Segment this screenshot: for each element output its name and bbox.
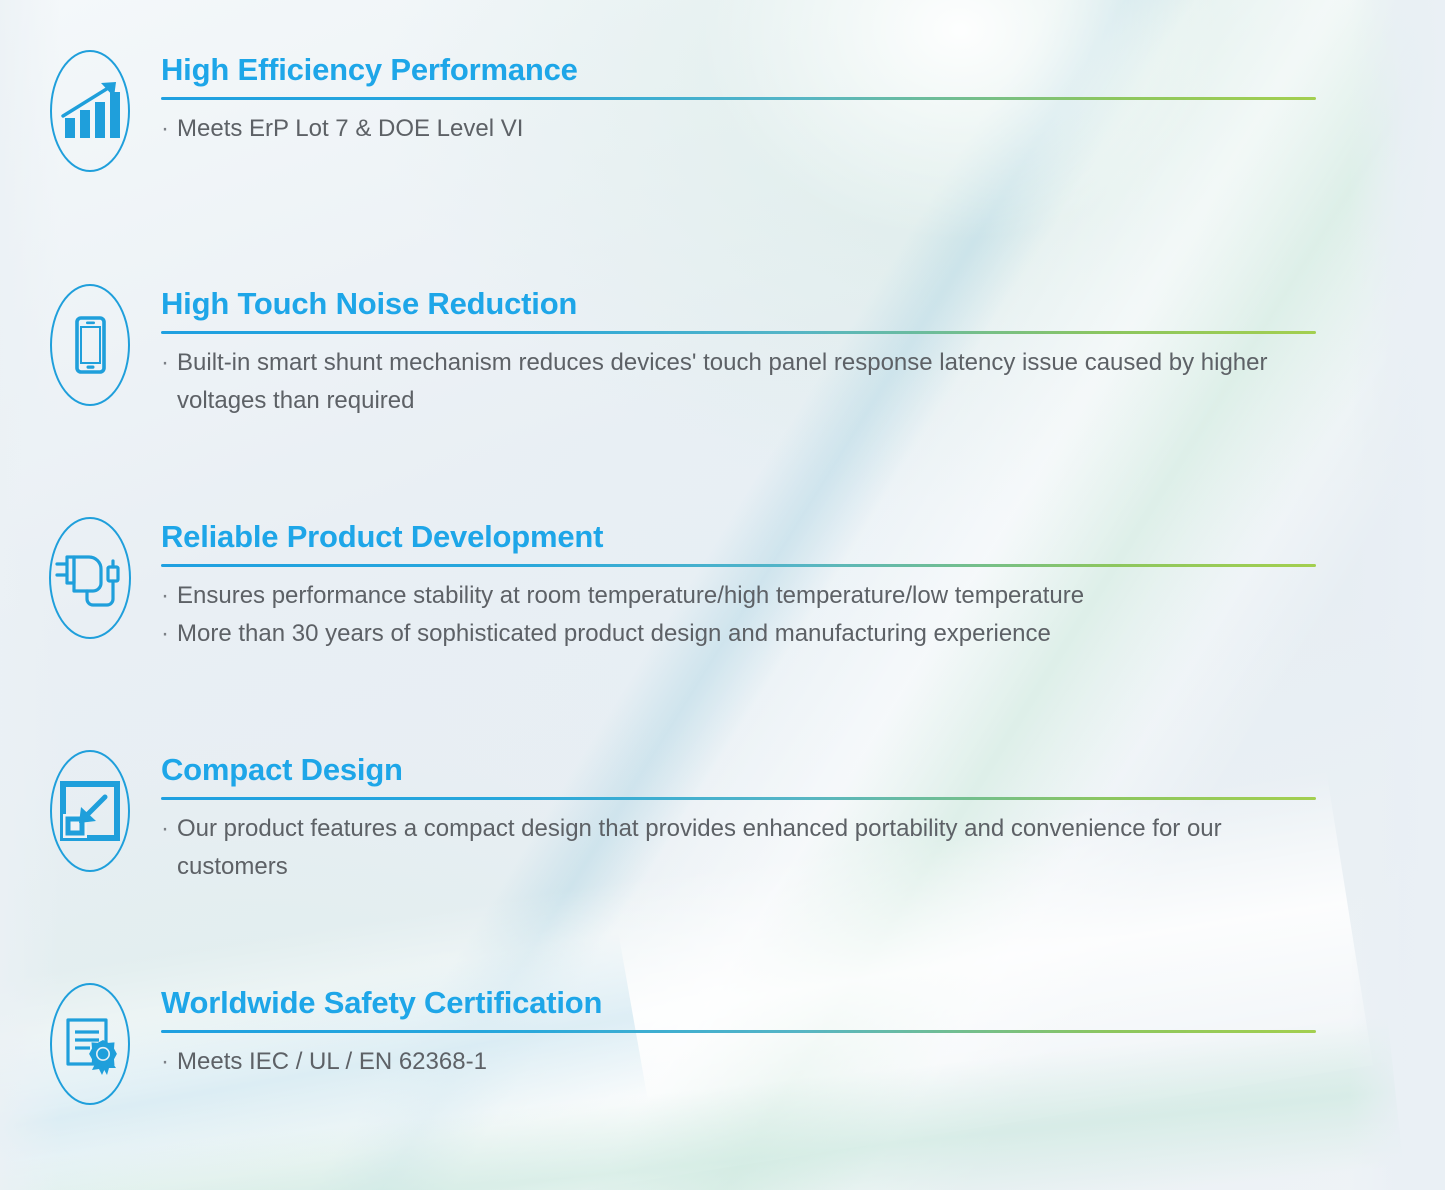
compact-resize-icon [50, 750, 130, 872]
feature-bullets: · Our product features a compact design … [161, 810, 1445, 887]
bullet-marker-icon: · [161, 577, 177, 615]
feature-item-worldwide-safety-certification: Worldwide Safety Certification · Meets I… [0, 983, 1445, 1105]
feature-bullet: · More than 30 years of sophisticated pr… [161, 615, 1445, 653]
feature-divider [161, 1030, 1316, 1033]
feature-bullets: · Meets ErP Lot 7 & DOE Level VI [161, 110, 1445, 148]
feature-title: High Touch Noise Reduction [161, 286, 1445, 322]
power-adapter-icon [49, 517, 131, 639]
smartphone-icon [50, 284, 130, 406]
feature-title: Compact Design [161, 752, 1445, 788]
feature-item-high-efficiency-performance: High Efficiency Performance · Meets ErP … [0, 50, 1445, 172]
feature-bullet: · Ensures performance stability at room … [161, 577, 1445, 615]
feature-divider [161, 564, 1316, 567]
feature-title: Reliable Product Development [161, 519, 1445, 555]
feature-bullet: · Our product features a compact design … [161, 810, 1445, 887]
feature-icon-container [0, 284, 130, 406]
feature-bullets: · Built-in smart shunt mechanism reduces… [161, 344, 1445, 421]
feature-icon-container [0, 983, 130, 1105]
feature-bullet: · Built-in smart shunt mechanism reduces… [161, 344, 1445, 421]
bar-chart-growth-icon [50, 50, 130, 172]
feature-bullet: · Meets IEC / UL / EN 62368-1 [161, 1043, 1445, 1081]
bullet-text: Meets ErP Lot 7 & DOE Level VI [177, 110, 1327, 148]
feature-bullets: · Ensures performance stability at room … [161, 577, 1445, 654]
feature-divider [161, 331, 1316, 334]
feature-divider [161, 97, 1316, 100]
feature-item-high-touch-noise-reduction: High Touch Noise Reduction · Built-in sm… [0, 284, 1445, 420]
feature-icon-container [0, 517, 130, 639]
bullet-marker-icon: · [161, 615, 177, 653]
feature-title: High Efficiency Performance [161, 52, 1445, 88]
feature-body: Worldwide Safety Certification · Meets I… [130, 983, 1445, 1081]
feature-item-compact-design: Compact Design · Our product features a … [0, 750, 1445, 886]
feature-icon-container [0, 50, 130, 172]
bullet-text: Our product features a compact design th… [177, 810, 1327, 887]
feature-icon-container [0, 750, 130, 872]
feature-title: Worldwide Safety Certification [161, 985, 1445, 1021]
bullet-marker-icon: · [161, 110, 177, 148]
feature-item-reliable-product-development: Reliable Product Development · Ensures p… [0, 517, 1445, 653]
feature-body: Compact Design · Our product features a … [130, 750, 1445, 886]
bullet-marker-icon: · [161, 810, 177, 887]
bullet-text: Built-in smart shunt mechanism reduces d… [177, 344, 1327, 421]
bullet-marker-icon: · [161, 1043, 177, 1081]
feature-bullets: · Meets IEC / UL / EN 62368-1 [161, 1043, 1445, 1081]
feature-list-page: High Efficiency Performance · Meets ErP … [0, 0, 1445, 1190]
bullet-text: More than 30 years of sophisticated prod… [177, 615, 1327, 653]
feature-body: High Efficiency Performance · Meets ErP … [130, 50, 1445, 148]
feature-body: Reliable Product Development · Ensures p… [130, 517, 1445, 653]
bullet-marker-icon: · [161, 344, 177, 421]
feature-bullet: · Meets ErP Lot 7 & DOE Level VI [161, 110, 1445, 148]
feature-body: High Touch Noise Reduction · Built-in sm… [130, 284, 1445, 420]
bullet-text: Meets IEC / UL / EN 62368-1 [177, 1043, 1327, 1081]
bullet-text: Ensures performance stability at room te… [177, 577, 1327, 615]
feature-divider [161, 797, 1316, 800]
certificate-seal-icon [50, 983, 130, 1105]
